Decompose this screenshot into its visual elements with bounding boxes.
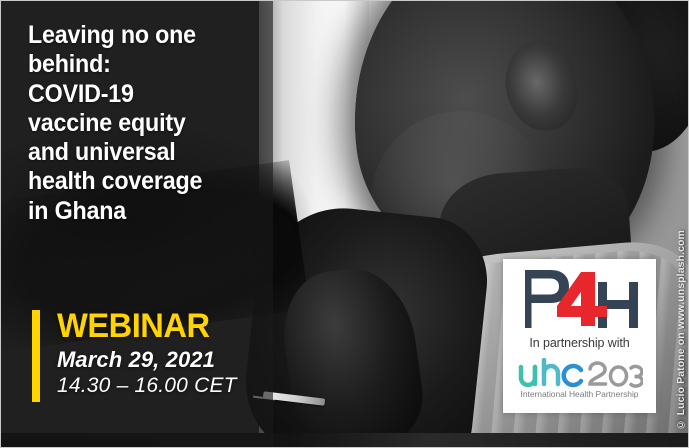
event-type-label: WEBINAR: [57, 310, 230, 343]
webinar-info-block: WEBINAR March 29, 2021 14.30 – 16.00 CET: [32, 310, 237, 402]
uhc2030-logo: [517, 358, 643, 388]
photo-credit: © Lucio Patone on www.unsplash.com: [675, 230, 687, 431]
event-date: March 29, 2021: [57, 348, 237, 373]
p4h-logo: [521, 268, 639, 330]
event-time: 14.30 – 16.00 CET: [57, 374, 237, 398]
webinar-text-group: WEBINAR March 29, 2021 14.30 – 16.00 CET: [57, 310, 237, 402]
webinar-promo-poster: Leaving no one behind: COVID-19 vaccine …: [0, 0, 689, 448]
uhc2030-tagline: International Health Partnership: [521, 390, 639, 399]
logo-panel: In partnership with Inter: [503, 259, 656, 413]
accent-bar: [32, 310, 40, 402]
page-title: Leaving no one behind: COVID-19 vaccine …: [28, 21, 261, 226]
partnership-label: In partnership with: [529, 337, 629, 350]
